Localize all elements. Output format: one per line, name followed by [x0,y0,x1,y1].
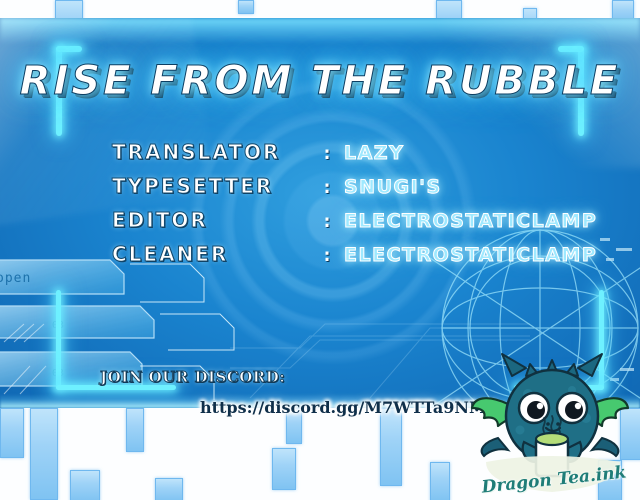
svg-text:open: open [0,271,31,286]
discord-url-link[interactable]: https://discord.gg/M7WTTa9NMS [200,398,498,417]
credits-row: CLEANER : ELECTROSTATICLAMP [112,242,632,276]
decor-bar [272,448,296,490]
credits-row: EDITOR : ELECTROSTATICLAMP [112,208,632,242]
credits-name-value: ELECTROSTATICLAMP [344,210,597,232]
discord-label: JOIN OUR DISCORD: [100,368,285,386]
credits-name-value: SNUGI'S [344,176,442,198]
credits-separator: : [310,144,344,164]
decor-bar [155,478,183,500]
decor-bar [70,470,100,500]
decor-bar [126,408,144,452]
credits-separator: : [310,212,344,232]
decor-bar [30,408,58,500]
credits-role-label: EDITOR [112,208,310,232]
page-title: RISE FROM THE RUBBLE [0,58,640,104]
credits-row: TRANSLATOR : LAZY [112,140,632,174]
decor-bar [0,408,24,458]
credits-role-label: TRANSLATOR [112,140,310,164]
decor-bar [238,0,254,14]
credits-row: TYPESETTER : SNUGI'S [112,174,632,208]
credits-name-value: ELECTROSTATICLAMP [344,244,597,266]
decor-bar [380,408,402,486]
credits-role-label: CLEANER [112,242,310,266]
credits-page: open 03 03 RISE FROM THE RUBBLE TRANSLAT… [0,0,640,500]
credits-separator: : [310,246,344,266]
credits-role-label: TYPESETTER [112,174,310,198]
credits-name-value: LAZY [344,142,404,164]
credits-list: TRANSLATOR : LAZY TYPESETTER : SNUGI'S E… [112,140,632,276]
decor-bar [430,462,450,500]
credits-separator: : [310,178,344,198]
dragon-tea-logo: Dragon Tea.ink [468,346,636,496]
